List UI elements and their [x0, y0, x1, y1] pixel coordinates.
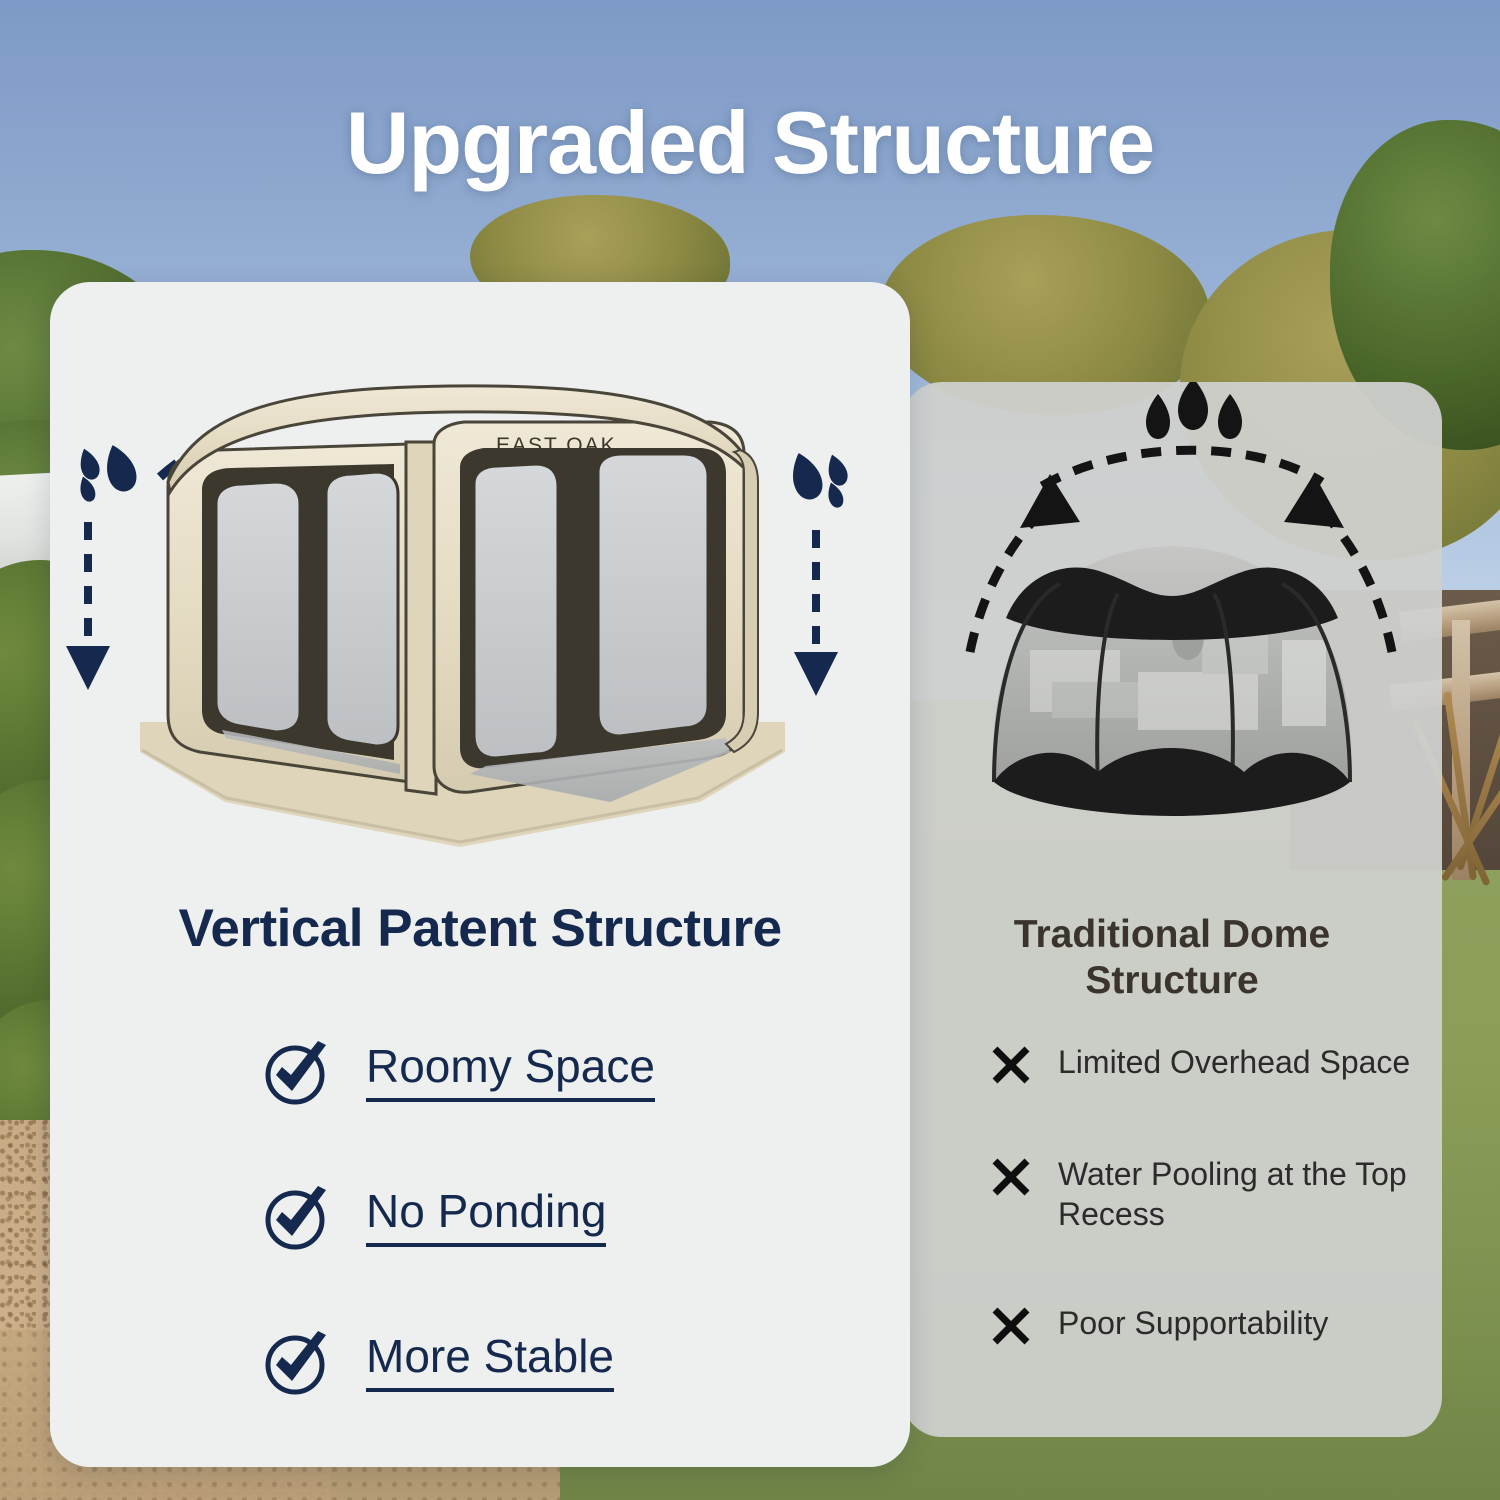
east-oak-pop-up-gazebo-illustration: EAST OAK [50, 282, 910, 882]
feature-row: More Stable [260, 1310, 860, 1414]
feature-label: More Stable [366, 1332, 614, 1391]
mesh-window-4 [598, 454, 708, 736]
check-circle-icon [260, 1325, 334, 1399]
feature-row: Roomy Space [260, 1020, 860, 1124]
dashed-arc-annotation [1042, 450, 1322, 486]
x-mark-icon [990, 1156, 1032, 1198]
x-mark-icon [990, 1305, 1032, 1347]
page-title: Upgraded Structure [0, 92, 1500, 194]
left-card-heading: Vertical Patent Structure [50, 898, 910, 959]
down-arrow-right-head [794, 652, 838, 696]
right-card-heading-line2: Structure [902, 958, 1442, 1004]
right-card-heading-line1: Traditional Dome [902, 912, 1442, 958]
mesh-window-1 [216, 482, 300, 732]
drawback-row: Limited Overhead Space [990, 1042, 1420, 1086]
dome-bottom-skirt [994, 748, 1350, 816]
traditional-dome-illustration [902, 382, 1442, 852]
drawback-label: Water Pooling at the Top Recess [1058, 1154, 1420, 1235]
drawback-list-cons: Limited Overhead Space Water Pooling at … [990, 1042, 1420, 1347]
mesh-window-2 [326, 472, 398, 746]
inward-arrow-right-shaft [1314, 504, 1392, 652]
water-droplets-right [785, 449, 850, 510]
feature-row: No Ponding [260, 1165, 860, 1269]
tent-center-post [406, 442, 436, 794]
right-card-heading: Traditional Dome Structure [902, 912, 1442, 1004]
down-arrow-left-head [66, 646, 110, 690]
feature-list-pros: Roomy Space No Ponding More Stable [260, 1020, 860, 1414]
inward-arrow-left-head [1020, 474, 1080, 528]
drawback-label: Poor Supportability [1058, 1303, 1328, 1343]
inward-arrow-right-head [1284, 474, 1344, 528]
x-mark-icon [990, 1044, 1032, 1086]
drawback-row: Water Pooling at the Top Recess [990, 1154, 1420, 1235]
feature-label: No Ponding [366, 1187, 606, 1246]
mesh-window-3 [474, 464, 558, 758]
brand-label: EAST OAK [496, 434, 617, 457]
water-droplets-left [75, 441, 140, 504]
feature-label: Roomy Space [366, 1042, 655, 1101]
drawback-row: Poor Supportability [990, 1303, 1420, 1347]
water-droplets-falling [1146, 382, 1242, 439]
check-circle-icon [260, 1035, 334, 1109]
check-circle-icon [260, 1180, 334, 1254]
drawback-label: Limited Overhead Space [1058, 1042, 1410, 1082]
